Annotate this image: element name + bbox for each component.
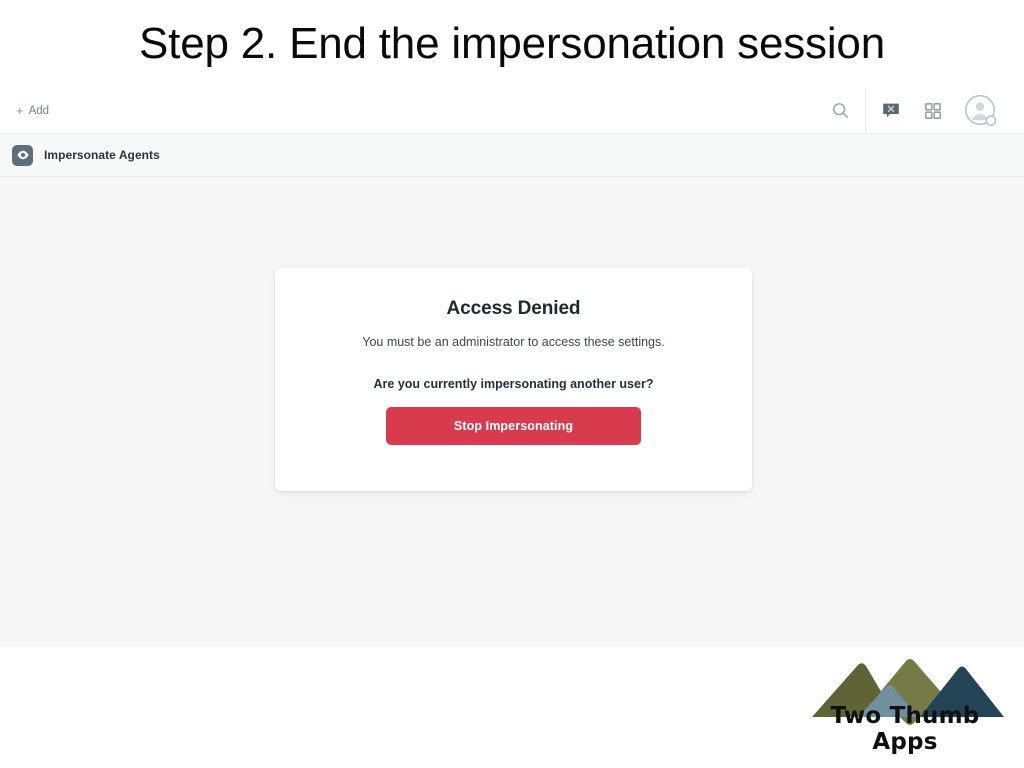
toolbar-divider [865,88,866,134]
two-thumb-apps-logo: Two Thumb Apps [800,655,1010,755]
eye-icon [16,148,30,162]
impersonation-question: Are you currently impersonating another … [374,377,654,391]
add-button-label: Add [29,105,49,117]
app-nav-bar: Impersonate Agents [0,134,1024,177]
app-nav-title: Impersonate Agents [44,148,160,162]
app-screenshot-region: + Add [0,88,1024,647]
access-denied-card: Access Denied You must be an administrat… [275,268,752,491]
grid-apps-icon [924,102,942,120]
user-avatar[interactable] [954,88,1008,134]
feedback-button[interactable] [870,88,912,134]
logo-text: Two Thumb Apps [800,703,1010,755]
slide-footer: Two Thumb Apps [0,647,1024,768]
chat-bubble-icon [881,101,901,121]
add-button[interactable]: + Add [12,101,53,120]
access-denied-title: Access Denied [447,298,581,320]
toolbar-actions [819,88,1008,133]
access-denied-subtitle: You must be an administrator to access t… [362,335,664,349]
plus-icon: + [16,104,24,117]
app-content-canvas: Access Denied You must be an administrat… [0,177,1024,647]
slide-title: Step 2. End the impersonation session [0,0,1024,88]
user-avatar-icon [964,94,998,128]
search-icon [832,102,849,119]
apps-grid-button[interactable] [912,88,954,134]
impersonate-agents-app-icon[interactable] [12,145,33,166]
stop-impersonating-button[interactable]: Stop Impersonating [386,407,641,445]
app-toolbar: + Add [0,88,1024,134]
search-button[interactable] [819,88,861,134]
